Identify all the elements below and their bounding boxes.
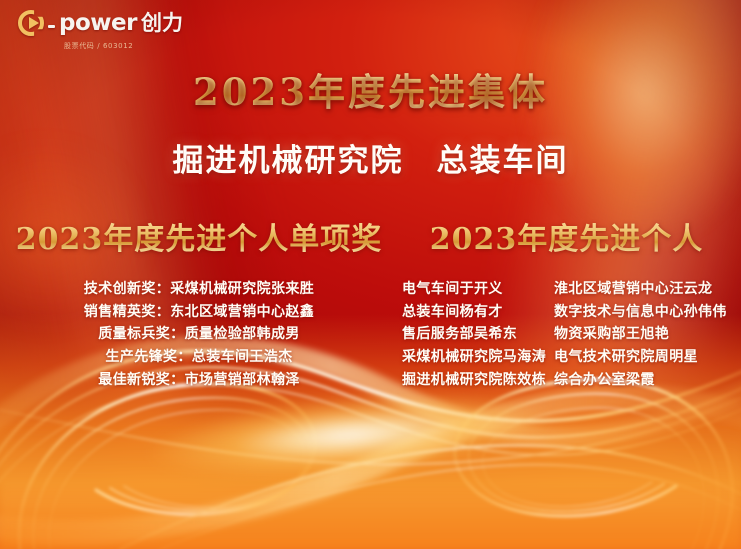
stock-code-text: 股票代码 / 603012 — [64, 41, 228, 51]
recipient-name: 采煤机械研究院马海涛 — [402, 346, 554, 369]
list-item: 电气车间于开义 淮北区域营销中心汪云龙 — [402, 278, 741, 301]
recipient-name: 物资采购部王旭艳 — [554, 323, 732, 346]
c-power-arrow-logo-icon — [18, 10, 44, 36]
recipient-name: 总装车间杨有才 — [402, 301, 554, 324]
recipient-name: 电气车间于开义 — [402, 278, 554, 301]
list-item: 生产先锋奖：总装车间王浩杰 — [6, 346, 392, 369]
page-subtitle: 掘进机械研究院 总装车间 — [0, 135, 741, 180]
recipient-name: 掘进机械研究院陈效栋 — [402, 369, 554, 392]
brand-logo-word: power — [59, 12, 137, 35]
list-item: 销售精英奖：东北区域营销中心赵鑫 — [6, 301, 392, 324]
awards-column-left: 2023年度先进个人单项奖 技术创新奖：采煤机械研究院张来胜 销售精英奖：东北区… — [0, 214, 392, 391]
left-column-heading: 2023年度先进个人单项奖 — [6, 214, 392, 258]
right-column-heading: 2023年度先进个人 — [392, 214, 741, 258]
awards-section: 2023年度先进个人单项奖 技术创新奖：采煤机械研究院张来胜 销售精英奖：东北区… — [0, 214, 741, 391]
recipient-name: 淮北区域营销中心汪云龙 — [554, 278, 732, 301]
awards-column-right: 2023年度先进个人 电气车间于开义 淮北区域营销中心汪云龙 总装车间杨有才 数… — [392, 214, 741, 391]
list-item: 采煤机械研究院马海涛 电气技术研究院周明星 — [402, 346, 741, 369]
right-award-list: 电气车间于开义 淮北区域营销中心汪云龙 总装车间杨有才 数字技术与信息中心孙伟伟… — [392, 278, 741, 391]
logo-dash-icon — [48, 25, 55, 28]
list-item: 质量标兵奖：质量检验部韩成男 — [6, 323, 392, 346]
recipient-name: 综合办公室梁霞 — [554, 369, 732, 392]
recipient-name: 售后服务部吴希东 — [402, 323, 554, 346]
list-item: 售后服务部吴希东 物资采购部王旭艳 — [402, 323, 741, 346]
list-item: 技术创新奖：采煤机械研究院张来胜 — [6, 278, 392, 301]
list-item: 最佳新锐奖：市场营销部林翰泽 — [6, 369, 392, 392]
brand-logo[interactable]: power 创力 股票代码 / 603012 — [18, 10, 228, 51]
list-item: 总装车间杨有才 数字技术与信息中心孙伟伟 — [402, 301, 741, 324]
award-poster: power 创力 股票代码 / 603012 2023年度先进集体 掘进机械研究… — [0, 0, 741, 549]
recipient-name: 数字技术与信息中心孙伟伟 — [554, 301, 732, 324]
left-award-list: 技术创新奖：采煤机械研究院张来胜 销售精英奖：东北区域营销中心赵鑫 质量标兵奖：… — [6, 278, 392, 391]
brand-logo-row: power 创力 — [18, 10, 228, 36]
brand-logo-cn: 创力 — [141, 13, 183, 34]
ribbon-bottom-glow — [0, 429, 741, 549]
list-item: 掘进机械研究院陈效栋 综合办公室梁霞 — [402, 369, 741, 392]
recipient-name: 电气技术研究院周明星 — [554, 346, 732, 369]
page-title: 2023年度先进集体 — [0, 62, 741, 116]
